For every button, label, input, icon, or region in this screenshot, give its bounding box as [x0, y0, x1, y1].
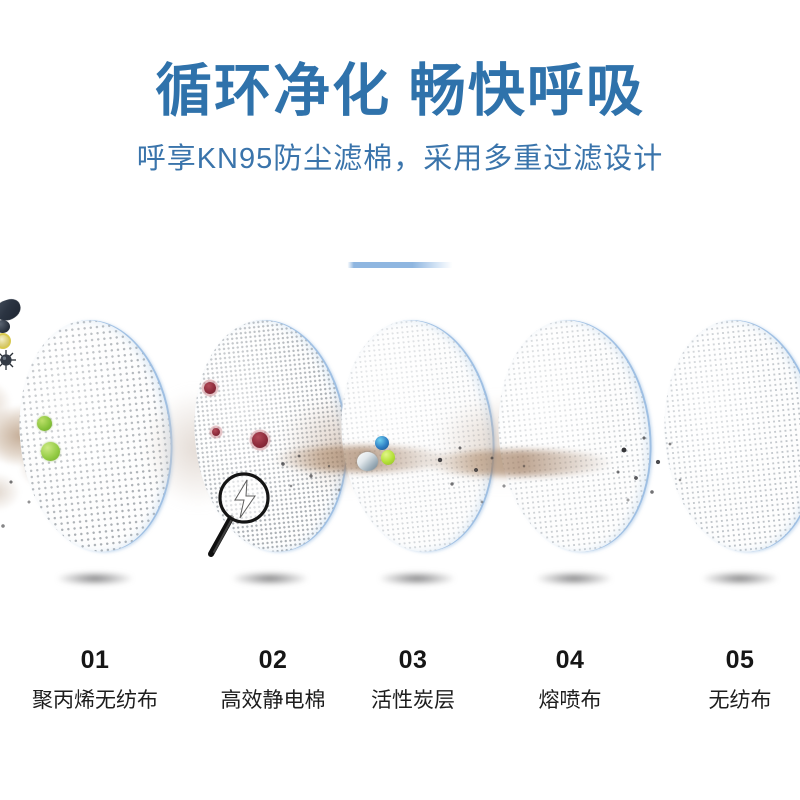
layer-number-01: 01	[0, 630, 190, 673]
fine-specks-icon	[430, 440, 550, 516]
layer-caption-04: 04 熔喷布	[475, 630, 665, 711]
green-germ-icon	[37, 416, 52, 431]
disc-shadow	[380, 572, 454, 585]
yellow-germ-icon	[0, 333, 11, 349]
title-divider	[348, 262, 453, 268]
carbon-bead-icon	[357, 452, 378, 471]
fine-specks-icon	[277, 450, 359, 506]
dark-debris-pebble-icon	[0, 320, 10, 333]
layer-number-04: 04	[475, 630, 665, 673]
red-bacteria-icon	[204, 382, 216, 394]
layer-name-04: 熔喷布	[475, 673, 665, 711]
layer-number-05: 05	[645, 630, 800, 673]
filter-layer-stage	[0, 300, 800, 630]
dark-debris-chunk-icon	[0, 296, 23, 323]
disc-shadow	[233, 572, 307, 585]
red-bacteria-icon	[212, 428, 220, 436]
layer-name-05: 无纺布	[645, 673, 800, 711]
page-title: 循环净化 畅快呼吸	[0, 0, 800, 122]
product-feature-banner: 循环净化 畅快呼吸 呼享KN95防尘滤棉，采用多重过滤设计	[0, 0, 800, 800]
layer-caption-05: 05 无纺布	[645, 630, 800, 711]
fine-specks-icon	[612, 428, 704, 516]
layer-caption-row: 01 聚丙烯无纺布 02 高效静电棉 03 活性炭层 04 熔喷布 05 无纺布	[0, 630, 800, 740]
disc-shadow	[703, 572, 777, 585]
lime-microparticle-icon	[381, 450, 395, 465]
layer-caption-01: 01 聚丙烯无纺布	[0, 630, 190, 711]
magnifier-lightning-icon	[202, 468, 280, 560]
layer-name-01: 聚丙烯无纺布	[0, 673, 190, 711]
filter-layer-05	[640, 300, 800, 630]
disc-shadow	[537, 572, 611, 585]
page-subtitle: 呼享KN95防尘滤棉，采用多重过滤设计	[0, 122, 800, 176]
blue-microparticle-icon	[375, 436, 389, 450]
red-bacteria-icon	[252, 432, 268, 448]
header: 循环净化 畅快呼吸 呼享KN95防尘滤棉，采用多重过滤设计	[0, 0, 800, 176]
disc-shadow	[58, 572, 132, 585]
green-germ-icon	[41, 442, 60, 461]
virus-spiky-icon	[0, 349, 17, 371]
